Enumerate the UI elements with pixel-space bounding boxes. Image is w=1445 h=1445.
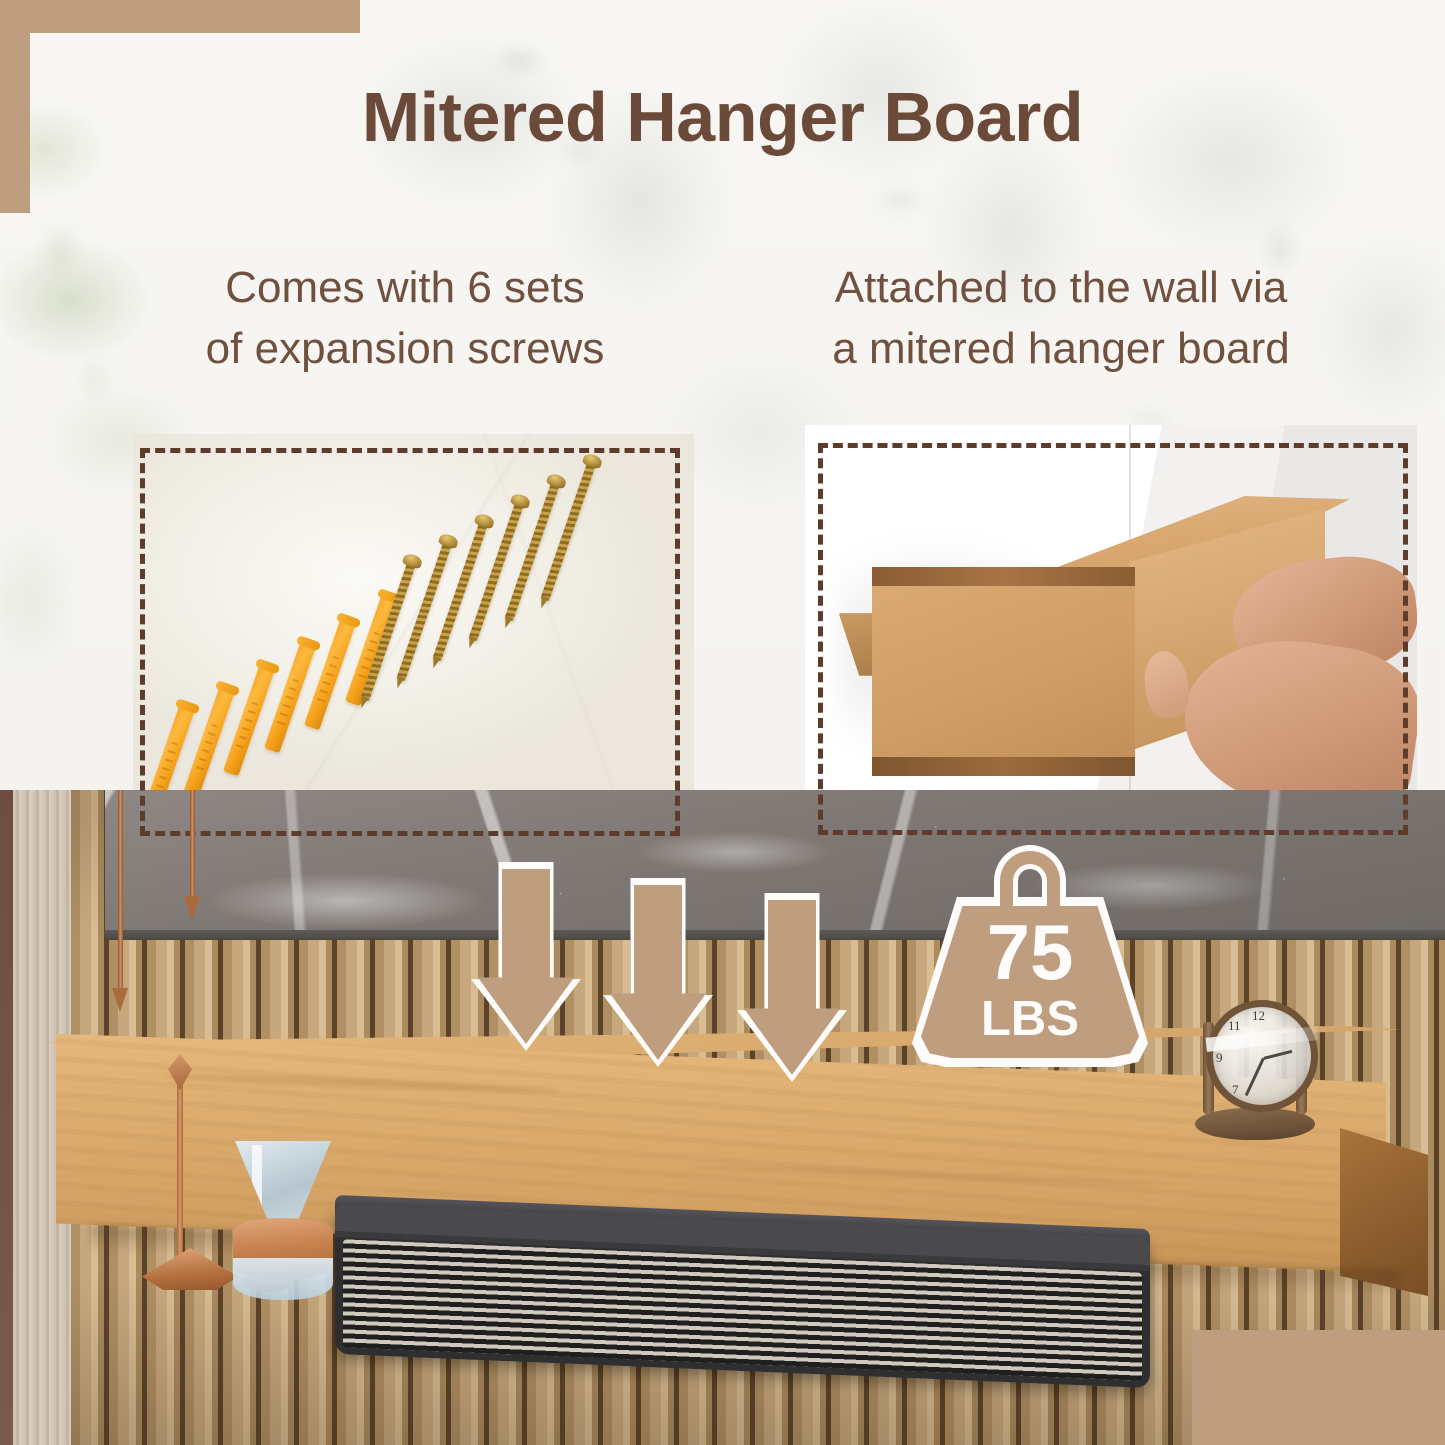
candle-holder-stem	[177, 1066, 183, 1261]
vase-glass-base	[233, 1258, 333, 1300]
pendant-rod	[190, 790, 195, 898]
caption-right-line1: Attached to the wall via	[725, 258, 1397, 319]
wall-mounting-photo	[805, 425, 1417, 843]
corner-accent-bottom-right	[1192, 1330, 1445, 1445]
expansion-screws-photo	[133, 434, 694, 844]
left-wall-edge	[0, 790, 13, 1445]
clock-numeral-9: 9	[1216, 1050, 1223, 1066]
pendant-rod	[118, 790, 123, 990]
infographic-canvas: Mitered Hanger Board Comes with 6 sets o…	[0, 0, 1445, 1445]
clock-numeral-7: 7	[1232, 1082, 1239, 1098]
page-title: Mitered Hanger Board	[0, 82, 1445, 152]
caption-right-line2: a mitered hanger board	[725, 319, 1397, 380]
clock-numeral-12: 12	[1252, 1008, 1265, 1024]
caption-left: Comes with 6 sets of expansion screws	[85, 258, 725, 379]
floating-shelf	[50, 1026, 1400, 1326]
clock-numeral-11: 11	[1228, 1018, 1241, 1034]
corner-accent-top-left-horizontal	[0, 0, 360, 33]
caption-left-line2: of expansion screws	[85, 319, 725, 380]
shelf-front-face	[872, 567, 1135, 776]
weight-capacity-badge: 75 LBS	[912, 845, 1148, 1067]
weight-value: 75	[912, 913, 1148, 991]
caption-left-line1: Comes with 6 sets	[85, 258, 725, 319]
caption-right: Attached to the wall via a mitered hange…	[725, 258, 1397, 379]
weight-unit: LBS	[912, 995, 1148, 1044]
